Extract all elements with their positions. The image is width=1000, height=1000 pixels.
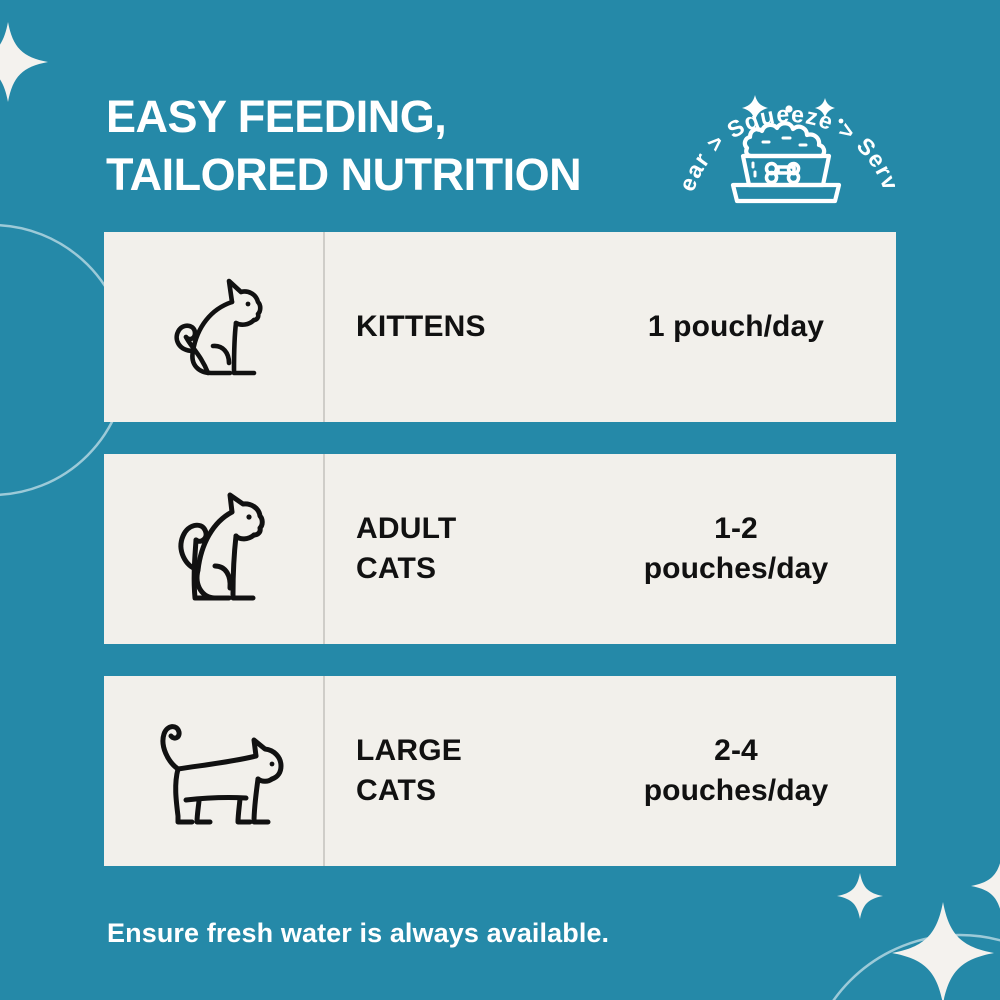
bottom-right-small-sparkle: [837, 873, 883, 919]
row-icon-cell: [104, 454, 325, 644]
standing-large-cat-icon: [142, 712, 286, 830]
bottom-right-large-sparkle: [892, 902, 994, 1000]
badge-food-texture: [763, 138, 806, 145]
top-left-sparkle: [0, 22, 48, 102]
tear-squeeze-serve-badge: Tear > Squeeze > Serve: [683, 66, 895, 211]
header: EASY FEEDING, TAILORED NUTRITION: [106, 88, 666, 203]
row-label: LARGE CATS: [325, 731, 610, 810]
feeding-table: KITTENS 1 pouch/day: [104, 232, 896, 866]
sitting-kitten-icon: [153, 273, 275, 381]
row-icon-cell: [104, 676, 325, 866]
badge-bowl-highlight: [753, 163, 755, 176]
row-label: KITTENS: [325, 307, 610, 347]
badge-bone-icon: [767, 164, 799, 183]
badge-bowl-base: [733, 185, 839, 201]
row-icon-cell: [104, 232, 325, 422]
feeding-guide-poster: EASY FEEDING, TAILORED NUTRITION Tear > …: [0, 0, 1000, 1000]
badge-graphic: Tear > Squeeze > Serve: [683, 66, 895, 211]
row-body: ADULT CATS 1-2 pouches/day: [325, 454, 896, 644]
badge-dot-right: [839, 119, 844, 124]
badge-dot-center: [785, 105, 792, 112]
table-row: KITTENS 1 pouch/day: [104, 232, 896, 422]
row-label: ADULT CATS: [325, 509, 610, 588]
sitting-adult-cat-icon: [153, 490, 275, 608]
table-row: LARGE CATS 2-4 pouches/day: [104, 676, 896, 866]
footer-note: Ensure fresh water is always available.: [107, 918, 609, 949]
table-row: ADULT CATS 1-2 pouches/day: [104, 454, 896, 644]
row-amount: 1-2 pouches/day: [610, 509, 896, 588]
bottom-right-corner-sparkle: [971, 855, 1000, 917]
row-body: KITTENS 1 pouch/day: [325, 232, 896, 422]
bottom-right-ring: [805, 935, 1000, 1000]
badge-bowl-body: [743, 156, 829, 185]
row-amount: 1 pouch/day: [610, 307, 896, 347]
row-amount: 2-4 pouches/day: [610, 731, 896, 810]
row-body: LARGE CATS 2-4 pouches/day: [325, 676, 896, 866]
page-title: EASY FEEDING, TAILORED NUTRITION: [106, 88, 666, 203]
